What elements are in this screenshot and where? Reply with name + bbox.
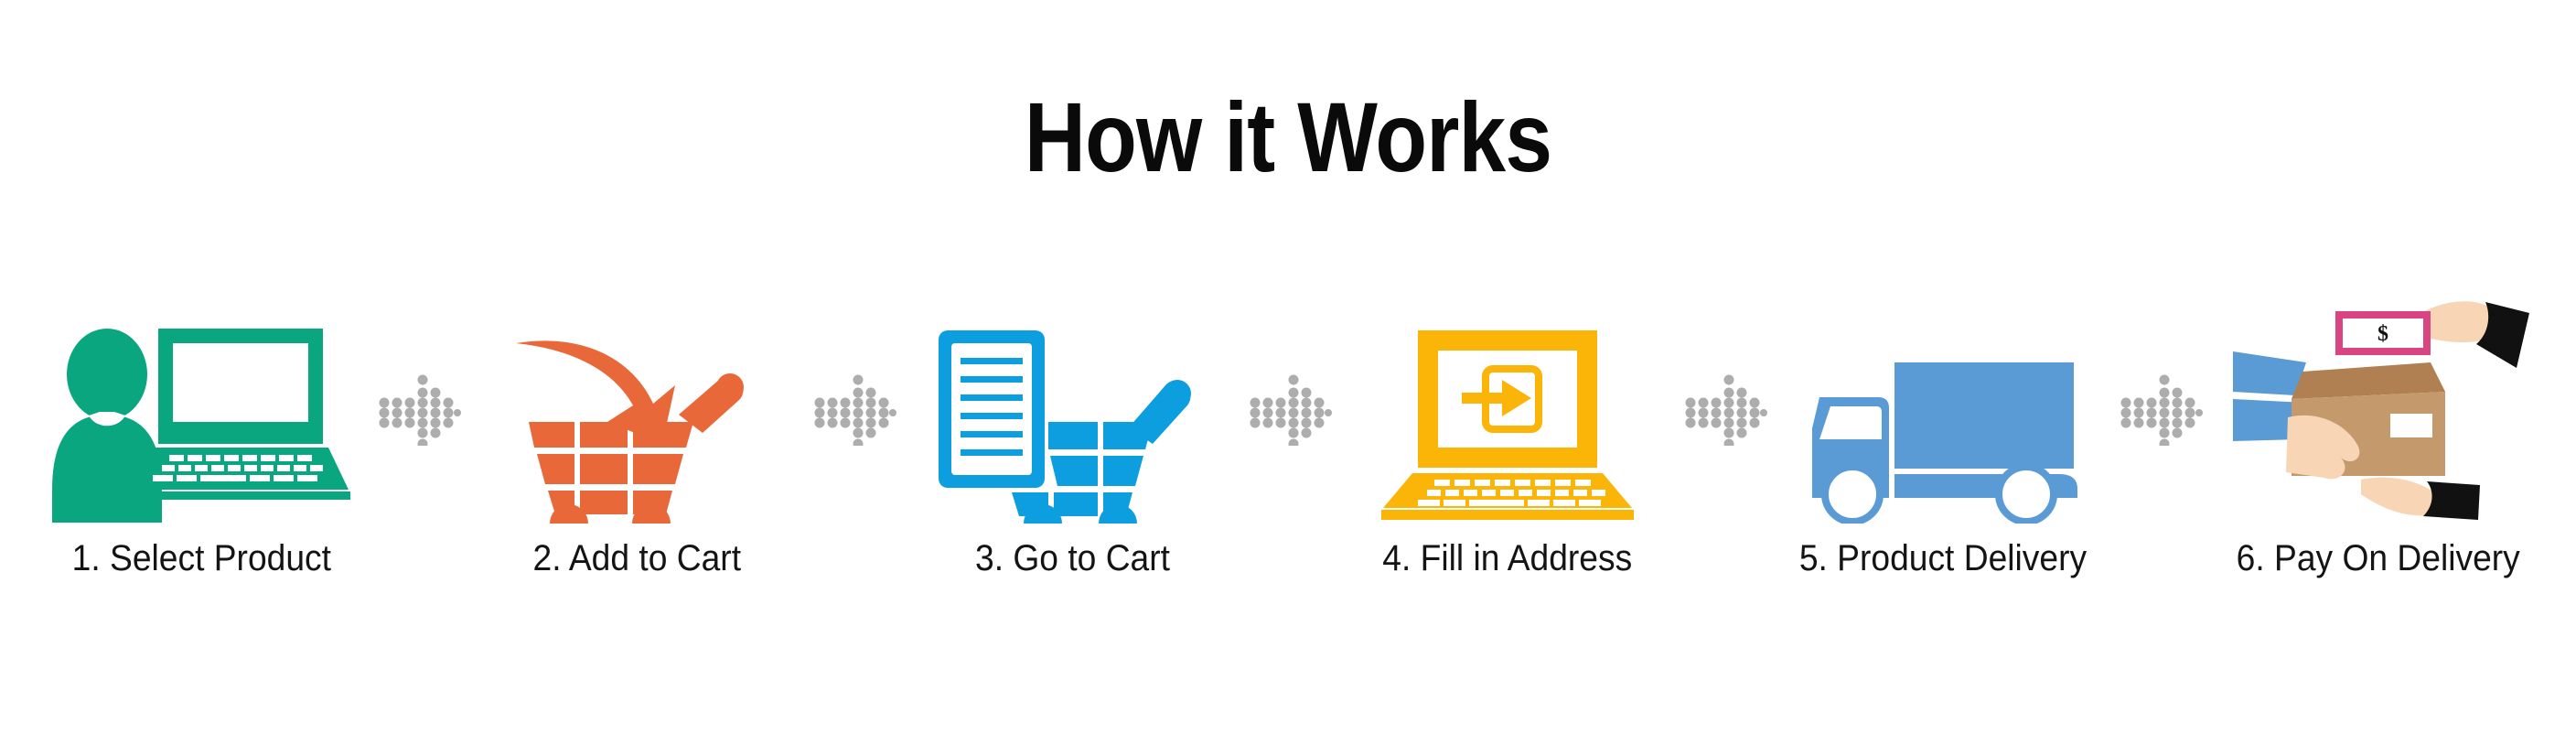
step-label: 2. Add to Cart: [532, 540, 740, 577]
cart-with-curved-arrow-icon: [472, 313, 801, 524]
dotted-arrow-right-icon-4: [1676, 302, 1775, 577]
step-label: 5. Product Delivery: [1799, 540, 2087, 577]
dotted-arrow-right-icon-2: [805, 302, 904, 577]
dollar-symbol: $: [2377, 322, 2388, 346]
step-label: 6. Pay On Delivery: [2237, 540, 2520, 577]
document-and-cart-icon: [907, 313, 1237, 524]
step-4-fill-in-address[interactable]: 4. Fill in Address: [1343, 302, 1672, 577]
how-it-works-infographic: How it Works: [0, 0, 2576, 745]
dotted-arrow-right-icon-1: [370, 302, 468, 577]
delivery-truck-icon: [1778, 313, 2108, 524]
step-label: 4. Fill in Address: [1383, 540, 1633, 577]
laptop-with-login-arrow-icon: [1343, 313, 1672, 524]
step-5-product-delivery[interactable]: 5. Product Delivery: [1778, 302, 2108, 577]
step-label: 1. Select Product: [71, 540, 330, 577]
step-2-add-to-cart[interactable]: 2. Add to Cart: [472, 302, 801, 577]
dotted-arrow-right-icon-3: [1240, 302, 1339, 577]
step-1-select-product[interactable]: 1. Select Product: [37, 302, 366, 577]
person-at-laptop-icon: [37, 313, 366, 524]
page-title: How it Works: [180, 88, 2396, 187]
step-label: 3. Go to Cart: [975, 540, 1170, 577]
hands-exchanging-box-and-money-icon: $: [2214, 313, 2543, 524]
step-6-pay-on-delivery[interactable]: $ 6. Pay On Delivery: [2214, 302, 2543, 577]
steps-strip: 1. Select Product: [37, 302, 2543, 577]
dotted-arrow-right-icon-5: [2111, 302, 2210, 577]
step-3-go-to-cart[interactable]: 3. Go to Cart: [907, 302, 1237, 577]
